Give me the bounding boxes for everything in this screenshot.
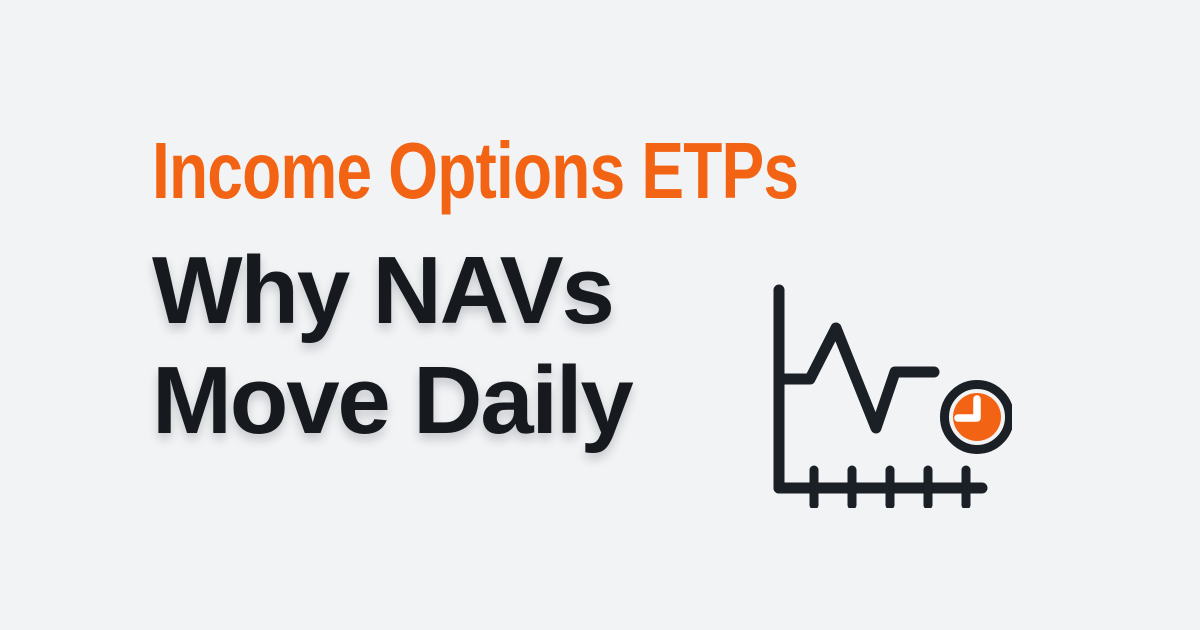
clock-badge-icon (940, 380, 1012, 454)
social-card: Income Options ETPs Why NAVs Move Daily (0, 0, 1200, 630)
chart-icon-svg (752, 272, 1012, 508)
page-title: Why NAVs Move Daily (152, 236, 752, 456)
eyebrow-text: Income Options ETPs (152, 128, 632, 214)
chart-axes (779, 290, 982, 488)
hero-text-block: Income Options ETPs Why NAVs Move Daily (152, 128, 752, 456)
chart-data-line (779, 328, 934, 428)
headline-line-1: Why NAVs (152, 236, 752, 346)
line-chart-with-clock-icon (752, 272, 1012, 508)
headline-line-2: Move Daily (152, 346, 752, 456)
